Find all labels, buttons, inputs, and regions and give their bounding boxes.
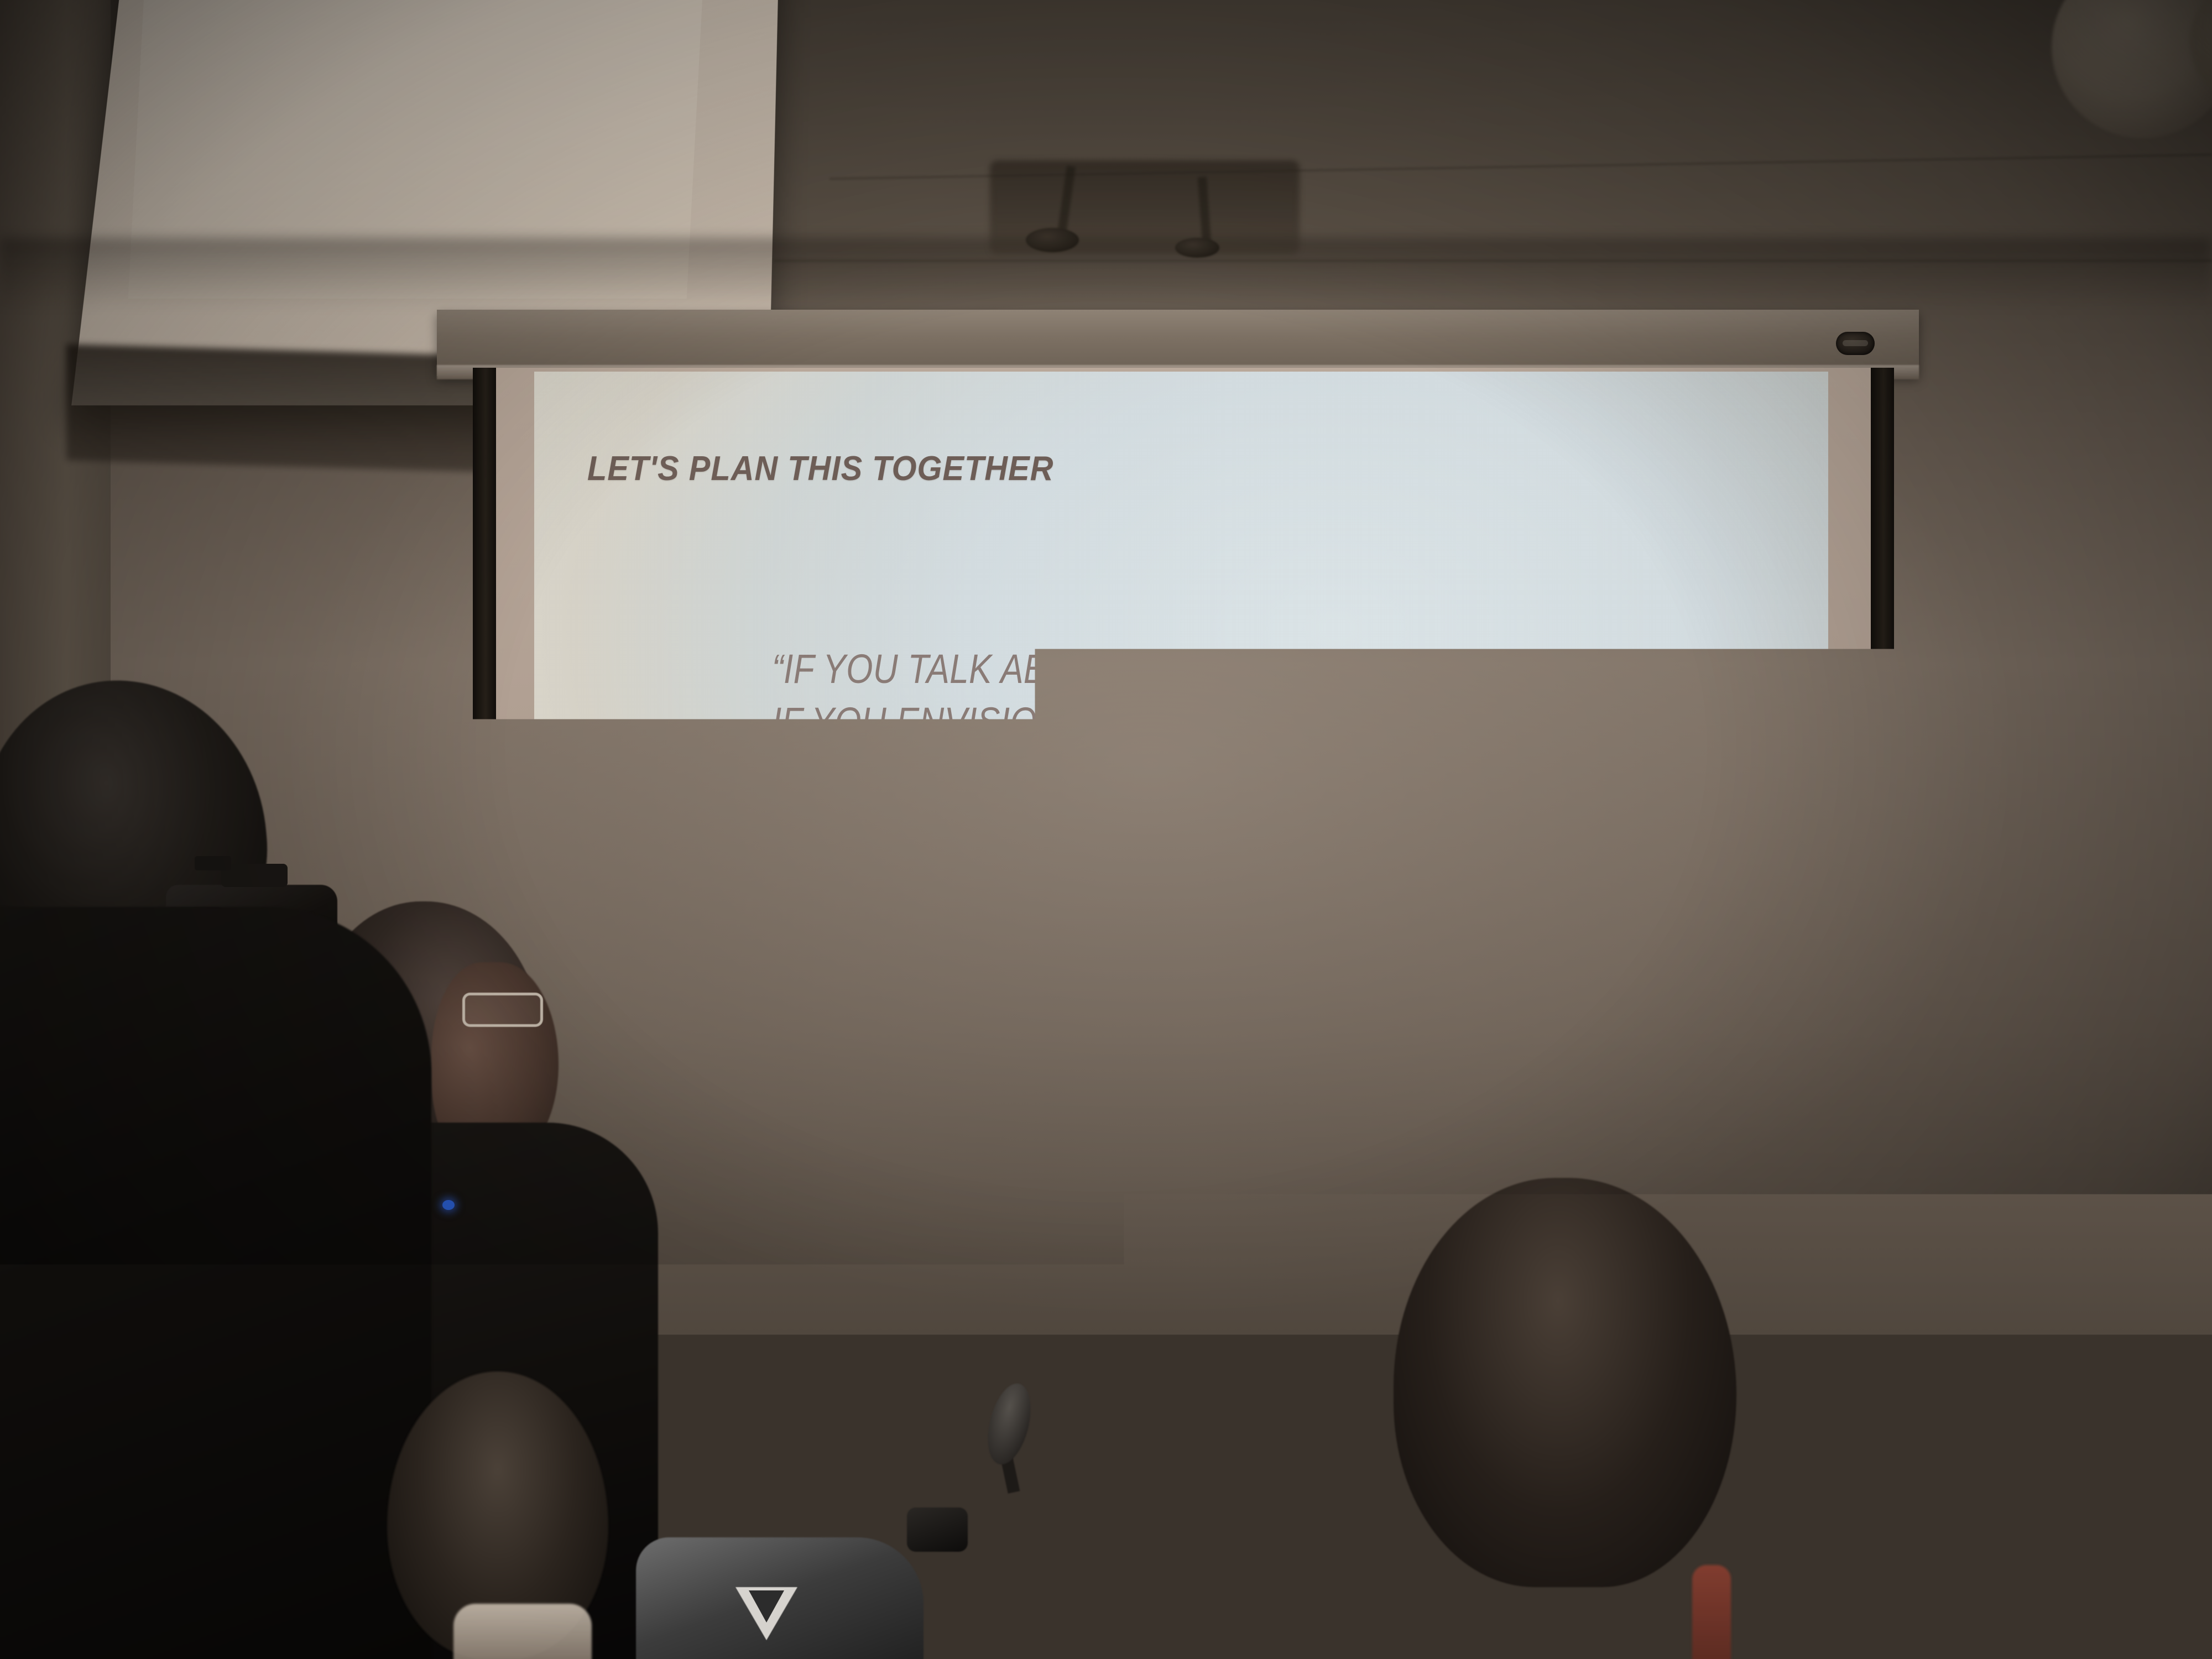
quote-line: IT'S REAL.” bbox=[772, 802, 1412, 855]
motorcycle-fork-tube bbox=[979, 1559, 1000, 1659]
audience-curly-person-collar bbox=[453, 1604, 592, 1659]
quote-line: IF YOU ENVISION IT, IT'S POSSIBLE, bbox=[772, 696, 1412, 749]
screenshot-stage: LET'S PLAN THIS TOGETHER “IF YOU TALK AB… bbox=[0, 0, 2212, 1659]
spotlight-head-icon bbox=[1175, 238, 1219, 258]
slide-quote-author: ANTHONY ROBBINS bbox=[773, 929, 938, 949]
projected-slide: LET'S PLAN THIS TOGETHER “IF YOU TALK AB… bbox=[534, 372, 1828, 1288]
camera-top-plate bbox=[221, 864, 288, 887]
slide-quote-block: “IF YOU TALK ABOUT IT, IT'S A DREAM, IF … bbox=[772, 643, 1535, 855]
audience-olive-jacket-head bbox=[1394, 1178, 1736, 1587]
motorcycle-fork-tube bbox=[940, 1543, 966, 1659]
slide-title: LET'S PLAN THIS TOGETHER bbox=[587, 449, 1054, 488]
ceiling-seam bbox=[774, 260, 2212, 262]
quote-line: BUT IF YOU SCHEDULE IT, bbox=[772, 749, 1412, 802]
motorcycle-instrument-cluster bbox=[907, 1507, 968, 1552]
red-strap-object bbox=[1692, 1565, 1731, 1659]
screen-border-right bbox=[1871, 368, 1894, 1352]
photographer-body bbox=[0, 907, 431, 1659]
eyeglasses-icon bbox=[462, 993, 543, 1027]
triumph-logo-inner bbox=[749, 1590, 784, 1623]
quote-line: “IF YOU TALK ABOUT IT, IT'S A DREAM, bbox=[772, 643, 1412, 696]
spotlight-head-icon bbox=[1026, 228, 1079, 252]
camera-hotshoe-icon bbox=[195, 856, 231, 870]
led-indicator-icon bbox=[442, 1200, 455, 1210]
screen-endcap-icon bbox=[1836, 332, 1875, 355]
audience-grey-curly-hair-texture bbox=[1792, 1239, 2135, 1648]
